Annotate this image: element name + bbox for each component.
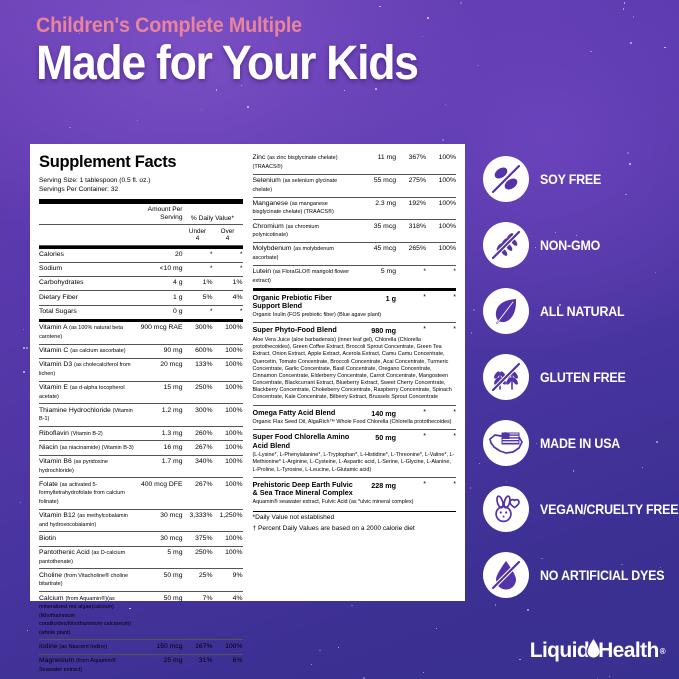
nutrient-amount: 45 mcg (350, 243, 396, 266)
benefit-label: ALL NATURAL (540, 304, 624, 319)
blend-amount: 140 mg (354, 409, 396, 418)
nutrient-source: (as molybdenum ascorbate) (253, 246, 334, 260)
nutrient-source: (as cholecalciferol from lichen) (39, 362, 131, 376)
nutrient-dv-over4: 100% (213, 427, 243, 441)
table-row: Thiamine Hydrochloride (Vitamin B-1)1.2 … (39, 404, 243, 427)
nutrition-table-basic: Calories20**Sodium<10 mg**Carbohydrates4… (39, 249, 243, 319)
table-row: Sodium<10 mg** (39, 262, 243, 276)
table-row: Dietary Fiber1 g5%4% (39, 291, 243, 305)
nutrient-source: (as niacinamide) (Vitamin B-3) (60, 445, 134, 451)
nutrient-dv-under4: 267% (183, 478, 213, 509)
supplement-facts-title: Supplement Facts (39, 152, 243, 173)
table-row: Calories20** (39, 249, 243, 263)
nutrient-source: (Vitamin B-1) (39, 408, 133, 422)
brand-name-part2: Health (598, 639, 659, 663)
nutrient-dv-over4: 100% (426, 174, 456, 197)
nutrient-amount: <10 mg (137, 262, 183, 276)
benefit-label: GLUTEN FREE (540, 370, 626, 385)
nutrient-dv-over4: 100% (213, 358, 243, 381)
nutrient-name: Vitamin E (as d-alpha tocopherol acetate… (39, 381, 137, 404)
nutrient-dv-over4: 100% (213, 404, 243, 427)
table-row: Total Sugars0 g** (39, 305, 243, 319)
blend-amount: 1 g (354, 294, 396, 303)
nutrient-amount: 30 mcg (137, 532, 183, 546)
nutrient-source: (from Vitacholine® choline bitartrate) (39, 573, 128, 587)
footnote: *Daily Value not established (253, 512, 457, 523)
table-row: Lutein (as FloraGLO® marigold flower ext… (253, 265, 457, 287)
blend-entry: Organic Prebiotic Fiber Support Blend1 g… (253, 291, 457, 320)
nutrient-dv-over4: 6% (213, 654, 243, 676)
nutrient-dv-under4: 192% (396, 197, 426, 220)
table-row: Vitamin E (as d-alpha tocopherol acetate… (39, 381, 243, 404)
nutrient-dv-over4: 1,250% (213, 509, 243, 532)
nutrient-dv-under4: 600% (183, 344, 213, 358)
nutrient-dv-under4: * (396, 265, 426, 287)
nutrient-source: (as d-alpha tocopherol acetate) (39, 385, 125, 399)
registered-mark: ® (660, 647, 665, 656)
nutrient-name: Calories (39, 249, 137, 263)
benefit-item: NON-GMO (483, 212, 679, 278)
nutrient-name: Molybdenum (as molybdenum ascorbate) (253, 243, 351, 266)
star (442, 139, 444, 141)
nutrient-name: Choline (from Vitacholine® choline bitar… (39, 569, 137, 592)
star (630, 42, 632, 44)
nutrient-amount: 1 g (137, 291, 183, 305)
star (26, 347, 27, 348)
nutrient-dv-over4: 100% (426, 197, 456, 220)
nutrient-dv-under4: 3,333% (183, 509, 213, 532)
nutrient-dv-under4: 340% (183, 455, 213, 478)
nutrient-name: Pantothenic Acid (as D-calcium pantothen… (39, 546, 137, 569)
nutrient-source: (from Aquamin®)(as mineralized red algae… (39, 596, 131, 636)
blend-dv-under4: * (396, 481, 426, 490)
nutrient-dv-over4: 100% (213, 441, 243, 455)
blend-dv-over4: * (426, 481, 456, 490)
nutrient-amount: 15 mg (137, 381, 183, 404)
blend-name: Prehistoric Deep Earth Fulvic & Sea Trac… (253, 481, 355, 498)
nutrient-amount: 35 mcg (350, 220, 396, 243)
nutrient-amount: 150 mcg (137, 640, 183, 654)
nutrient-name: Thiamine Hydrochloride (Vitamin B-1) (39, 404, 137, 427)
blend-entry: Omega Fatty Acid Blend140 mg**Organic Fl… (253, 406, 457, 427)
nutrient-name: Dietary Fiber (39, 291, 137, 305)
header-kicker: Children's Complete Multiple (36, 14, 562, 37)
nutrient-source: (as D-calcium pantothenate) (39, 550, 125, 564)
nutrient-dv-under4: 7% (183, 592, 213, 640)
blend-dv-under4: * (396, 326, 426, 335)
table-row: Calcium (from Aquamin®)(as mineralized r… (39, 592, 243, 640)
nutrient-amount: 90 mg (137, 344, 183, 358)
table-row: Vitamin D3 (as cholecalciferol from lich… (39, 358, 243, 381)
star (633, 16, 635, 18)
nutrient-amount: 1.7 mg (137, 455, 183, 478)
blend-ingredients: (L-Lysine*, L-Phenylalanine*, L-Tryptoph… (253, 452, 457, 474)
table-row: Riboflavin (Vitamin B-2)1.3 mg260%100% (39, 427, 243, 441)
table-row: Niacin (as niacinamide) (Vitamin B-3)16 … (39, 441, 243, 455)
nutrient-dv-under4: * (183, 305, 213, 319)
nutrient-dv-over4: 100% (426, 243, 456, 266)
supplement-facts-left-column: Supplement Facts Serving Size: 1 tablesp… (39, 152, 243, 597)
nutrient-dv-under4: 267% (183, 441, 213, 455)
nutrient-amount: 2.3 mg (350, 197, 396, 220)
star (379, 6, 381, 8)
benefit-label: NON-GMO (540, 238, 600, 253)
blend-amount: 228 mg (354, 481, 396, 490)
nutrient-source: (as Nascent Iodine) (59, 644, 107, 650)
star (519, 659, 521, 661)
nutrient-source: (as calcium ascorbate) (70, 348, 125, 354)
nutrient-dv-under4: 167% (183, 640, 213, 654)
star (445, 104, 446, 105)
gluten-free-icon (483, 354, 529, 400)
footnote-list: *Daily Value not established† Percent Da… (253, 512, 457, 534)
nutrient-dv-under4: 275% (396, 174, 426, 197)
nutrient-amount: 400 mcg DFE (137, 478, 183, 509)
benefits-list: SOY FREENON-GMOALL NATURALGLUTEN FREEMAD… (483, 146, 679, 608)
blend-dv-over4: * (426, 294, 456, 303)
non-gmo-icon (483, 222, 529, 268)
blend-dv-over4: * (426, 326, 456, 335)
star (470, 487, 471, 488)
supplement-facts-panel: Supplement Facts Serving Size: 1 tablesp… (30, 144, 465, 601)
nutrient-dv-under4: 300% (183, 404, 213, 427)
nutrient-dv-over4: * (213, 305, 243, 319)
nutrient-dv-under4: 265% (396, 243, 426, 266)
blend-ingredients: Aloe Vera Juice (aloe barbadensis) (inne… (253, 337, 457, 402)
nutrient-dv-over4: 100% (213, 478, 243, 509)
blend-entry: Super Phyto-Food Blend980 mg**Aloe Vera … (253, 323, 457, 401)
nutrient-source: (as zinc bisglycinate chelate) (TRAACS®) (253, 155, 338, 169)
benefit-item: SOY FREE (483, 146, 679, 212)
table-row: Carbohydrates4 g1%1% (39, 277, 243, 291)
star (311, 664, 312, 665)
col-over-label: Over (221, 228, 235, 235)
nutrient-name: Iodine (as Nascent Iodine) (39, 640, 137, 654)
nutrient-dv-under4: 25% (183, 569, 213, 592)
star (473, 309, 475, 311)
nutrient-amount: 20 mcg (137, 358, 183, 381)
nutrient-dv-under4: 250% (183, 381, 213, 404)
blend-dv-under4: * (396, 433, 426, 442)
nutrient-amount: 50 mg (137, 569, 183, 592)
col-over-num: 4 (226, 235, 230, 242)
nutrient-name: Lutein (as FloraGLO® marigold flower ext… (253, 265, 351, 287)
nutrient-dv-over4: 100% (213, 381, 243, 404)
nutrient-source: (as manganese bisglycinate chelate) (TRA… (253, 201, 334, 215)
nutrient-source: (as pyridoxine hydrochloride) (39, 459, 108, 473)
nutrient-dv-under4: 375% (183, 532, 213, 546)
benefit-item: NO ARTIFICIAL DYES (483, 542, 679, 608)
nutrient-name: Vitamin C (as calcium ascorbate) (39, 344, 137, 358)
nutrient-dv-under4: 300% (183, 322, 213, 344)
table-row: Vitamin B6 (as pyridoxine hydrochloride)… (39, 455, 243, 478)
star (137, 120, 138, 121)
col-amount-line1: Amount Per (148, 206, 183, 213)
no-dyes-droplet-icon (483, 552, 529, 598)
nutrient-source: (as chromium polynicotinate) (253, 224, 320, 238)
blend-entry: Super Food Chlorella Amino Acid Blend50 … (253, 430, 457, 473)
serving-size: Serving Size: 1 tablespoon (0.5 fl. oz.) (39, 176, 243, 186)
blend-name: Super Food Chlorella Amino Acid Blend (253, 433, 355, 450)
blend-name: Super Phyto-Food Blend (253, 326, 355, 335)
nutrient-name: Sodium (39, 262, 137, 276)
bunny-heart-icon (483, 486, 529, 532)
star (20, 502, 21, 503)
nutrient-dv-under4: 1% (183, 277, 213, 291)
brand-logo-text: Liquid Health ® (530, 637, 665, 665)
footnote: † Percent Daily Values are based on a 20… (253, 523, 457, 534)
table-row: Biotin30 mcg375%100% (39, 532, 243, 546)
table-row: Pantothenic Acid (as D-calcium pantothen… (39, 546, 243, 569)
blend-dv-over4: * (426, 433, 456, 442)
nutrient-amount: 30 mcg (137, 509, 183, 532)
table-row: Molybdenum (as molybdenum ascorbate)45 m… (253, 243, 457, 266)
table-row: Selenium (as selenium glycinate chelate)… (253, 174, 457, 197)
page-header: Children's Complete Multiple Made for Yo… (36, 14, 596, 89)
blend-amount: 50 mg (354, 433, 396, 442)
brand-name-part1: Liquid (530, 639, 589, 663)
blend-name: Omega Fatty Acid Blend (253, 409, 355, 418)
star (460, 2, 462, 4)
star (69, 127, 71, 129)
nutrient-amount: 900 mcg RAE (137, 322, 183, 344)
table-row: Vitamin A (as 100% natural beta carotene… (39, 322, 243, 344)
nutrient-dv-over4: * (426, 265, 456, 287)
usa-flag-map-icon (483, 420, 529, 466)
table-row: Chromium (as chromium polynicotinate)35 … (253, 220, 457, 243)
star (436, 628, 437, 629)
star (23, 371, 25, 373)
nutrient-dv-over4: 100% (213, 322, 243, 344)
nutrient-name: Magnesium (from Aquamin® Seawater extrac… (39, 654, 137, 676)
benefit-label: MADE IN USA (540, 436, 620, 451)
nutrient-name: Selenium (as selenium glycinate chelate) (253, 174, 351, 197)
star (201, 109, 202, 110)
nutrient-name: Carbohydrates (39, 277, 137, 291)
nutrient-amount: 25 mg (137, 654, 183, 676)
nutrient-amount: 5 mg (350, 265, 396, 287)
star (27, 630, 28, 631)
nutrition-table-vitamins: Vitamin A (as 100% natural beta carotene… (39, 322, 243, 677)
nutrient-dv-under4: 5% (183, 291, 213, 305)
blend-amount: 980 mg (354, 326, 396, 335)
benefit-label: NO ARTIFICIAL DYES (540, 568, 664, 583)
nutrient-name: Riboflavin (Vitamin B-2) (39, 427, 137, 441)
nutrient-amount: 0 g (137, 305, 183, 319)
leaf-icon (483, 288, 529, 334)
nutrient-amount: 11 mg (350, 152, 396, 174)
nutrient-name: Vitamin D3 (as cholecalciferol from lich… (39, 358, 137, 381)
supplement-facts-right-column: Zinc (as zinc bisglycinate chelate) (TRA… (253, 152, 457, 597)
nutrient-dv-over4: * (213, 262, 243, 276)
servings-per-container: Servings Per Container: 32 (39, 185, 243, 195)
nutrient-dv-under4: 260% (183, 427, 213, 441)
nutrition-table-minerals: Zinc (as zinc bisglycinate chelate) (TRA… (253, 152, 457, 288)
nutrient-name: Vitamin A (as 100% natural beta carotene… (39, 322, 137, 344)
star (664, 47, 665, 48)
benefit-item: GLUTEN FREE (483, 344, 679, 410)
benefit-item: ALL NATURAL (483, 278, 679, 344)
table-row: Magnesium (from Aquamin® Seawater extrac… (39, 654, 243, 676)
nutrient-name: Manganese (as manganese bisglycinate che… (253, 197, 351, 220)
nutrient-amount: 20 (137, 249, 183, 263)
star (247, 106, 248, 107)
table-row: Folate (as activated 5-formyltetrahydrof… (39, 478, 243, 509)
nutrient-dv-over4: * (213, 249, 243, 263)
nutrient-name: Vitamin B12 (as methylcobalamin and hydr… (39, 509, 137, 532)
nutrient-dv-under4: * (183, 249, 213, 263)
star (527, 609, 529, 611)
nutrient-dv-under4: 250% (183, 546, 213, 569)
blend-ingredients: Aquamin® seawater extract, Fulvic Acid (… (253, 499, 457, 506)
nutrient-dv-over4: 100% (426, 152, 456, 174)
blend-dv-over4: * (426, 409, 456, 418)
blend-dv-under4: * (396, 294, 426, 303)
soy-free-icon (483, 156, 529, 202)
nutrient-dv-under4: 133% (183, 358, 213, 381)
nutrient-dv-over4: 100% (213, 344, 243, 358)
nutrient-amount: 50 mg (137, 592, 183, 640)
blend-entry: Prehistoric Deep Earth Fulvic & Sea Trac… (253, 478, 457, 507)
star (471, 332, 473, 334)
star (338, 647, 339, 648)
nutrient-dv-over4: 100% (426, 220, 456, 243)
nutrient-dv-over4: 100% (213, 640, 243, 654)
table-row: Manganese (as manganese bisglycinate che… (253, 197, 457, 220)
benefit-label: SOY FREE (540, 172, 601, 187)
star (423, 672, 424, 673)
nutrient-dv-over4: 4% (213, 291, 243, 305)
star (319, 650, 321, 652)
col-daily-value: % Daily Value (191, 215, 232, 222)
nutrient-name: Biotin (39, 532, 137, 546)
col-dv-sup: * (231, 215, 234, 222)
nutrient-name: Folate (as activated 5-formyltetrahydrof… (39, 478, 137, 509)
nutrient-amount: 1.2 mg (137, 404, 183, 427)
nutrient-source: (as activated 5-formyltetrahydrofolate f… (39, 482, 125, 505)
star (23, 347, 25, 349)
brand-logo: Liquid Health ® (530, 637, 665, 665)
nutrient-dv-over4: 100% (213, 546, 243, 569)
nutrient-dv-over4: 100% (213, 532, 243, 546)
nutrient-source: (from Aquamin® Seawater extract) (39, 658, 116, 672)
nutrient-amount: 55 mcg (350, 174, 396, 197)
nutrient-source: (as FloraGLO® marigold flower extract) (253, 269, 350, 283)
nutrition-header-table: Amount Per Serving % Daily Value* Under … (39, 204, 243, 246)
star (609, 676, 610, 677)
benefit-item: VEGAN/CRUELTY FREE (483, 476, 679, 542)
table-row: Zinc (as zinc bisglycinate chelate) (TRA… (253, 152, 457, 174)
col-amount-line2: Serving (160, 214, 182, 221)
nutrient-name: Total Sugars (39, 305, 137, 319)
star (624, 2, 625, 3)
nutrient-amount: 1.3 mg (137, 427, 183, 441)
table-row: Vitamin B12 (as methylcobalamin and hydr… (39, 509, 243, 532)
nutrient-source: (as selenium glycinate chelate) (253, 178, 338, 192)
page-title: Made for Your Kids (36, 40, 557, 89)
nutrient-dv-over4: 9% (213, 569, 243, 592)
nutrient-amount: 5 mg (137, 546, 183, 569)
star (623, 8, 625, 10)
nutrient-amount: 4 g (137, 277, 183, 291)
benefit-item: MADE IN USA (483, 410, 679, 476)
nutrient-name: Zinc (as zinc bisglycinate chelate) (TRA… (253, 152, 351, 174)
blend-ingredients: Organic Inulin (FOS prebiotic fiber) (Bl… (253, 312, 457, 319)
blend-name: Organic Prebiotic Fiber Support Blend (253, 294, 355, 311)
nutrient-name: Calcium (from Aquamin®)(as mineralized r… (39, 592, 137, 640)
table-row: Choline (from Vitacholine® choline bitar… (39, 569, 243, 592)
nutrient-source: (as 100% natural beta carotene) (39, 325, 123, 339)
table-row: Vitamin C (as calcium ascorbate)90 mg600… (39, 344, 243, 358)
col-under-num: 4 (196, 235, 200, 242)
col-under-label: Under (189, 228, 206, 235)
star (23, 329, 24, 330)
nutrient-dv-under4: 367% (396, 152, 426, 174)
nutrient-source: (Vitamin B-2) (71, 431, 103, 437)
nutrient-dv-over4: 1% (213, 277, 243, 291)
nutrient-name: Chromium (as chromium polynicotinate) (253, 220, 351, 243)
blend-dv-under4: * (396, 409, 426, 418)
nutrient-dv-under4: * (183, 262, 213, 276)
blend-ingredients: Organic Flax Seed Oil, AlgaRich™ Whole F… (253, 419, 457, 426)
nutrient-dv-over4: 4% (213, 592, 243, 640)
nutrient-dv-under4: 31% (183, 654, 213, 676)
nutrient-amount: 16 mg (137, 441, 183, 455)
nutrient-dv-under4: 318% (396, 220, 426, 243)
star (344, 90, 345, 91)
star (351, 605, 353, 607)
nutrient-name: Niacin (as niacinamide) (Vitamin B-3) (39, 441, 137, 455)
nutrient-name: Vitamin B6 (as pyridoxine hydrochloride) (39, 455, 137, 478)
table-row: Iodine (as Nascent Iodine)150 mcg167%100… (39, 640, 243, 654)
star (479, 463, 480, 464)
blend-list: Organic Prebiotic Fiber Support Blend1 g… (253, 291, 457, 507)
nutrient-dv-over4: 100% (213, 455, 243, 478)
benefit-label: VEGAN/CRUELTY FREE (540, 502, 678, 517)
nutrient-source: (as methylcobalamin and hydroxocobalamin… (39, 513, 128, 527)
